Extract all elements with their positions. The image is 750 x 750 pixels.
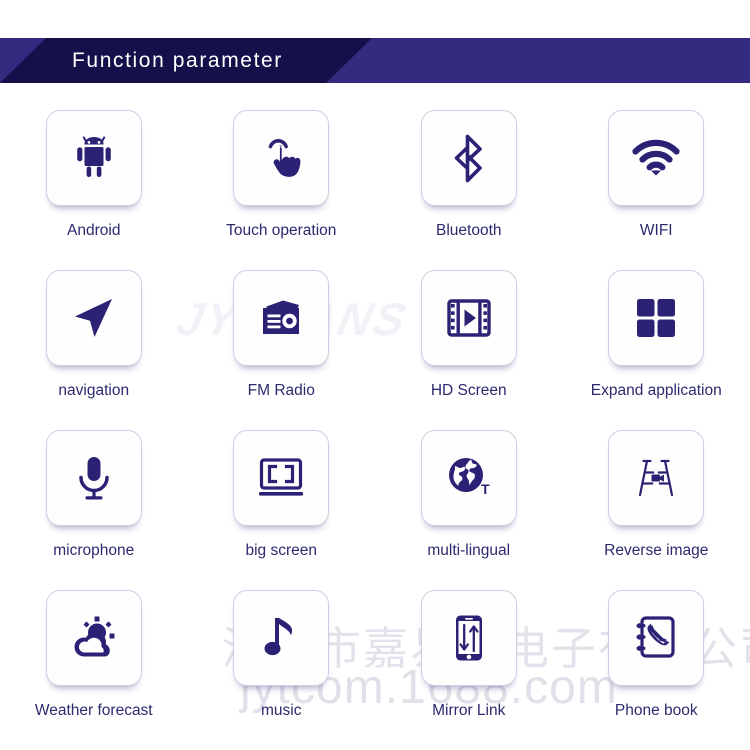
feature-label: WIFI xyxy=(640,222,673,240)
feature-tile[interactable] xyxy=(608,270,704,366)
grid-squares-icon xyxy=(628,290,684,346)
svg-text:T: T xyxy=(481,481,490,497)
feature-tile[interactable] xyxy=(608,110,704,206)
feature-tile[interactable] xyxy=(46,430,142,526)
feature-item-multi-lingual[interactable]: T multi-lingual xyxy=(375,430,563,590)
phone-arrows-icon xyxy=(441,610,497,666)
feature-tile[interactable] xyxy=(421,270,517,366)
feature-label: Touch operation xyxy=(226,222,336,240)
feature-item-weather-forecast[interactable]: Weather forecast xyxy=(0,590,188,750)
feature-tile[interactable] xyxy=(233,590,329,686)
feature-tile[interactable] xyxy=(421,590,517,686)
feature-tile[interactable] xyxy=(608,430,704,526)
feature-tile[interactable] xyxy=(46,110,142,206)
feature-item-mirror-link[interactable]: Mirror Link xyxy=(375,590,563,750)
rear-camera-icon xyxy=(628,450,684,506)
feature-tile[interactable] xyxy=(46,590,142,686)
phonebook-icon xyxy=(628,610,684,666)
feature-item-reverse-image[interactable]: Reverse image xyxy=(563,430,750,590)
feature-item-phone-book[interactable]: Phone book xyxy=(563,590,750,750)
header-banner: Function parameter xyxy=(0,38,750,83)
feature-tile[interactable]: T xyxy=(421,430,517,526)
feature-tile[interactable] xyxy=(233,430,329,526)
feature-grid: Android Touch operation Bluetooth xyxy=(0,110,750,750)
feature-label: Bluetooth xyxy=(436,222,502,240)
sun-cloud-icon xyxy=(66,610,122,666)
feature-label: multi-lingual xyxy=(427,542,510,560)
feature-label: Reverse image xyxy=(604,542,708,560)
microphone-icon xyxy=(66,450,122,506)
feature-tile[interactable] xyxy=(233,110,329,206)
feature-label: Weather forecast xyxy=(35,702,153,720)
feature-item-music[interactable]: music xyxy=(188,590,376,750)
feature-label: microphone xyxy=(53,542,134,560)
feature-item-navigation[interactable]: navigation xyxy=(0,270,188,430)
wifi-icon xyxy=(628,130,684,186)
feature-tile[interactable] xyxy=(608,590,704,686)
globe-t-icon: T xyxy=(441,450,497,506)
feature-item-expand-application[interactable]: Expand application xyxy=(563,270,750,430)
touch-hand-icon xyxy=(253,130,309,186)
feature-item-touch-operation[interactable]: Touch operation xyxy=(188,110,376,270)
feature-tile[interactable] xyxy=(421,110,517,206)
feature-item-wifi[interactable]: WIFI xyxy=(563,110,750,270)
feature-item-bluetooth[interactable]: Bluetooth xyxy=(375,110,563,270)
feature-label: music xyxy=(261,702,301,720)
page-title: Function parameter xyxy=(72,38,283,83)
bluetooth-icon xyxy=(441,130,497,186)
monitor-fullscreen-icon xyxy=(253,450,309,506)
feature-label: Mirror Link xyxy=(432,702,505,720)
navigation-arrow-icon xyxy=(66,290,122,346)
feature-item-big-screen[interactable]: big screen xyxy=(188,430,376,590)
feature-tile[interactable] xyxy=(233,270,329,366)
feature-label: FM Radio xyxy=(248,382,315,400)
feature-item-android[interactable]: Android xyxy=(0,110,188,270)
feature-item-microphone[interactable]: microphone xyxy=(0,430,188,590)
feature-label: navigation xyxy=(58,382,129,400)
feature-label: big screen xyxy=(245,542,317,560)
feature-label: Expand application xyxy=(591,382,722,400)
feature-label: Android xyxy=(67,222,120,240)
feature-label: HD Screen xyxy=(431,382,507,400)
android-icon xyxy=(66,130,122,186)
radio-icon xyxy=(253,290,309,346)
music-note-icon xyxy=(253,610,309,666)
film-play-icon xyxy=(441,290,497,346)
feature-tile[interactable] xyxy=(46,270,142,366)
feature-item-hd-screen[interactable]: HD Screen xyxy=(375,270,563,430)
feature-item-fm-radio[interactable]: FM Radio xyxy=(188,270,376,430)
feature-label: Phone book xyxy=(615,702,698,720)
